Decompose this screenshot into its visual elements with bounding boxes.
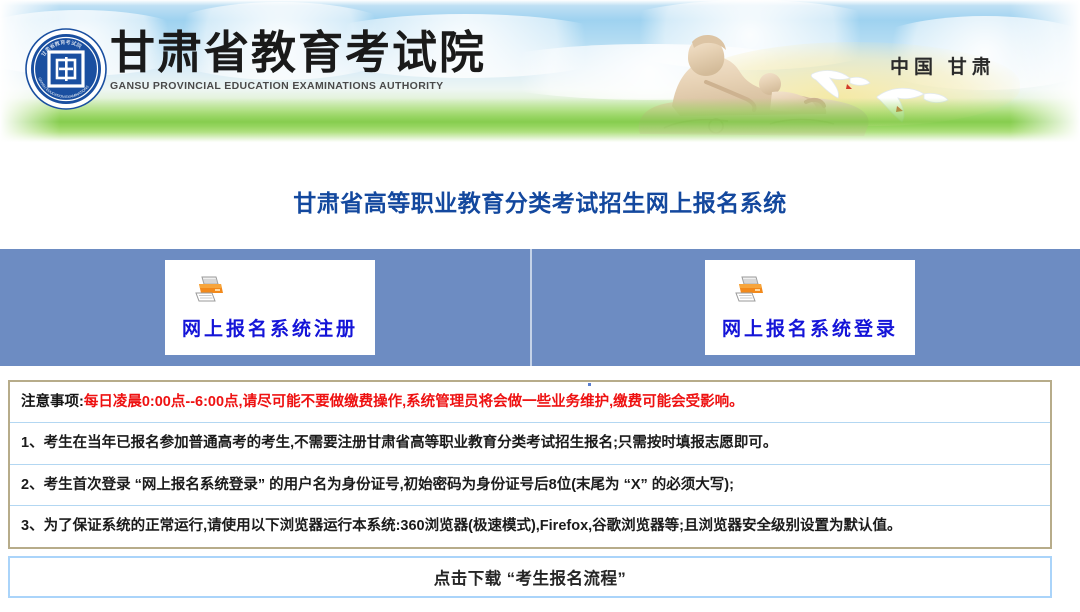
page-title: 甘肃省高等职业教育分类考试招生网上报名系统: [0, 184, 1080, 218]
notice-box: 注意事项:每日凌晨0:00点--6:00点,请尽可能不要做缴费操作,系统管理员将…: [8, 380, 1052, 549]
notice-warning-text: 每日凌晨0:00点--6:00点,请尽可能不要做缴费操作,系统管理员将会做一些业…: [84, 394, 744, 410]
organization-emblem-icon: 甘肃省教育考试院 GANSU EDUCATION EXAMINATIONS: [24, 27, 108, 111]
notice-row-item-3: 3、为了保证系统的正常运行,请使用以下浏览器运行本系统:360浏览器(极速模式)…: [10, 506, 1050, 546]
region-label: 中国 甘肃: [890, 52, 996, 79]
organization-name-cn: 甘肃省教育考试院: [110, 30, 510, 78]
login-button[interactable]: 网上报名系统登录: [705, 260, 915, 355]
register-button[interactable]: 网上报名系统注册: [165, 260, 375, 355]
register-button-label: 网上报名系统注册: [182, 314, 358, 341]
entry-button-bar: 网上报名系统注册: [0, 249, 1080, 366]
printer-document-icon: [733, 274, 767, 309]
stray-dot-artifact: [588, 383, 591, 386]
notice-row-warning: 注意事项:每日凌晨0:00点--6:00点,请尽可能不要做缴费操作,系统管理员将…: [10, 382, 1050, 423]
notice-warning-label: 注意事项:: [21, 394, 84, 410]
printer-document-icon: [193, 274, 227, 309]
login-button-label: 网上报名系统登录: [722, 314, 898, 341]
entry-slot-login: 网上报名系统登录: [540, 249, 1080, 366]
register-icon-wrap: [165, 274, 375, 308]
grass-decoration: [0, 98, 1080, 144]
banner-right-fade: [1010, 0, 1080, 144]
entry-bar-divider: [530, 249, 532, 366]
site-banner: 中国 甘肃 甘肃省教育考试院 GANSU EDUCATION EXAMINATI…: [0, 0, 1080, 144]
entry-slot-register: 网上报名系统注册: [0, 249, 540, 366]
download-process-link[interactable]: 点击下载 “考生报名流程”: [434, 565, 627, 589]
notice-row-item-2: 2、考生首次登录 “网上报名系统登录” 的用户名为身份证号,初始密码为身份证号后…: [10, 465, 1050, 506]
masthead: 甘肃省教育考试院 GANSU PROVINCIAL EDUCATION EXAM…: [110, 30, 510, 92]
download-bar: 点击下载 “考生报名流程”: [8, 556, 1052, 598]
login-icon-wrap: [705, 274, 915, 308]
notice-row-item-1: 1、考生在当年已报名参加普通高考的考生,不需要注册甘肃省高等职业教育分类考试招生…: [10, 423, 1050, 464]
organization-name-en: GANSU PROVINCIAL EDUCATION EXAMINATIONS …: [110, 80, 510, 92]
